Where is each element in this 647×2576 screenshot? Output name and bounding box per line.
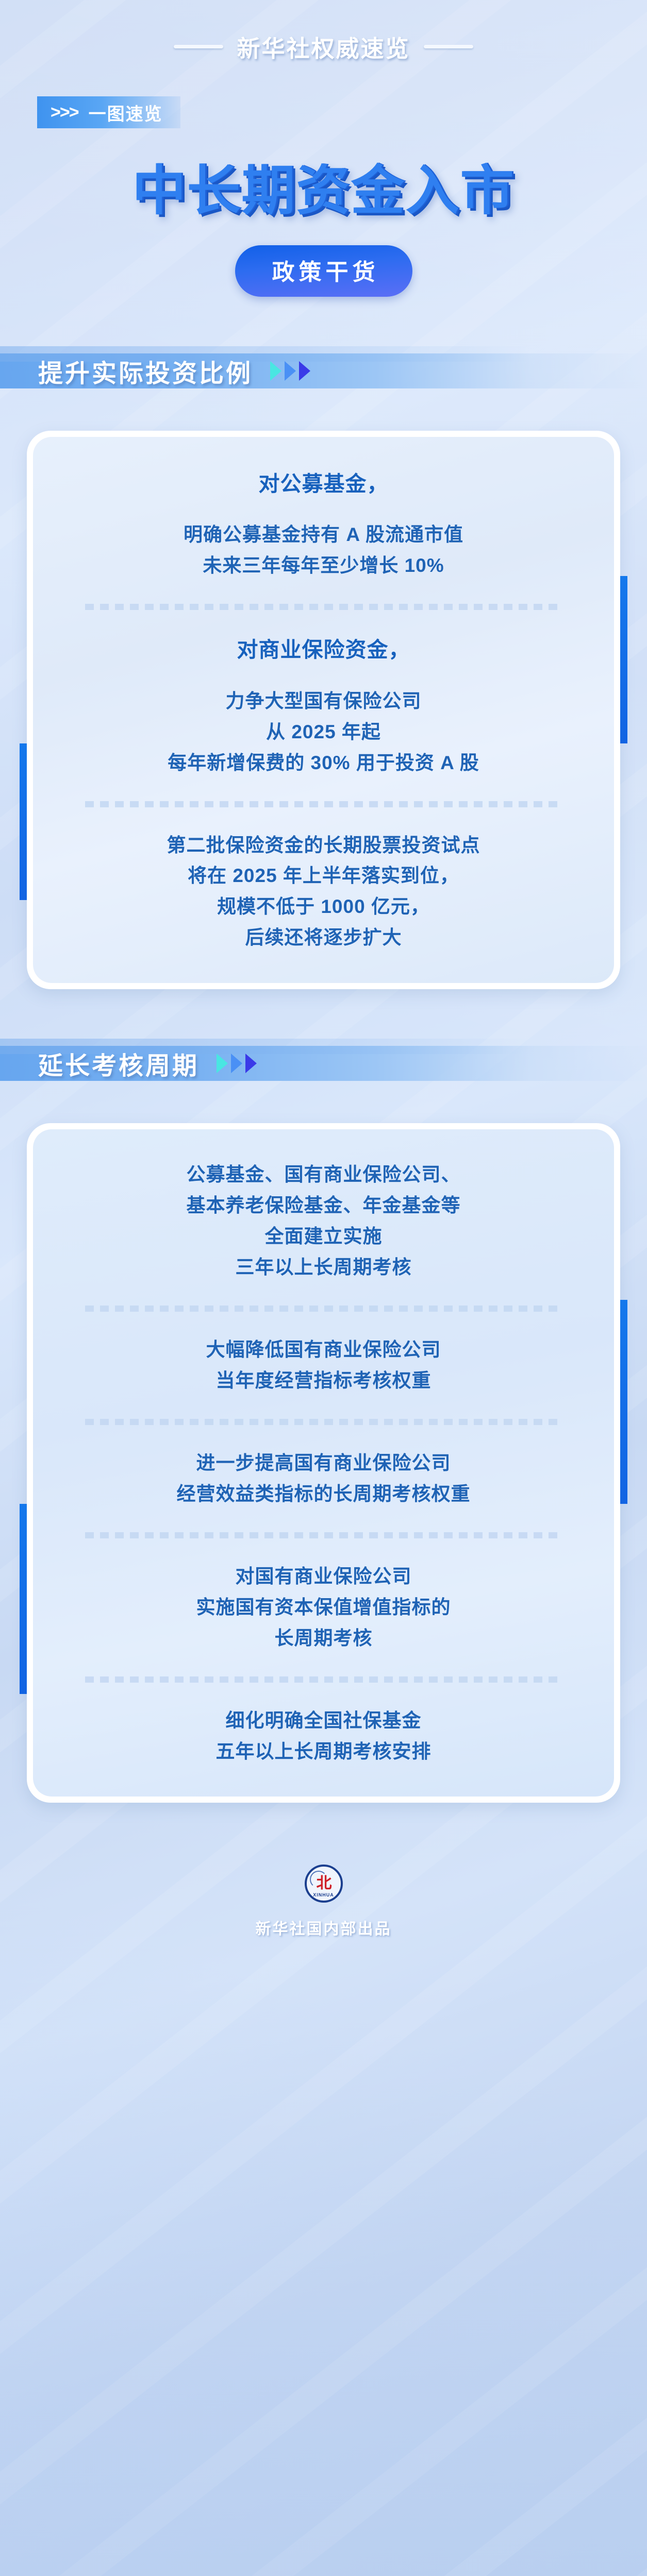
- content-block: 细化明确全国社保基金五年以上长周期考核安排: [56, 1705, 591, 1767]
- content-line: 力争大型国有保险公司: [56, 686, 591, 717]
- content-card-1: 对公募基金，明确公募基金持有 A 股流通市值未来三年每年至少增长 10%对商业保…: [27, 431, 620, 989]
- content-line: 大幅降低国有商业保险公司: [56, 1334, 591, 1365]
- arrow-right-icon: [231, 1054, 242, 1073]
- content-line: 将在 2025 年上半年落实到位，: [56, 860, 591, 891]
- logo-ring-icon: [310, 1871, 327, 1888]
- content-block: 大幅降低国有商业保险公司当年度经营指标考核权重: [56, 1334, 591, 1396]
- content-line: 经营效益类指标的长周期考核权重: [56, 1479, 591, 1510]
- content-line: 从 2025 年起: [56, 717, 591, 748]
- page-title: 中长期资金入市: [0, 147, 647, 225]
- content-block: 对国有商业保险公司实施国有资本保值增值指标的长周期考核: [56, 1561, 591, 1654]
- content-line: 规模不低于 1000 亿元，: [56, 891, 591, 922]
- chevrons-icon: >>>: [51, 104, 78, 121]
- subtitle-row: 政策干货: [0, 245, 647, 297]
- content-block: 公募基金、国有商业保险公司、基本养老保险基金、年金基金等全面建立实施三年以上长周…: [56, 1159, 591, 1283]
- sections-container: 提升实际投资比例对公募基金，明确公募基金持有 A 股流通市值未来三年每年至少增长…: [0, 346, 647, 1803]
- content-block: 第二批保险资金的长期股票投资试点将在 2025 年上半年落实到位，规模不低于 1…: [56, 830, 591, 954]
- brand-header: 新华社权威速览: [0, 0, 647, 63]
- divider-dashed: [85, 1532, 562, 1538]
- arrow-right-icon: [285, 361, 296, 381]
- content-line: 全面建立实施: [56, 1221, 591, 1252]
- eyebrow-row: >>> 一图速览: [0, 96, 647, 128]
- content-line: 公募基金、国有商业保险公司、: [56, 1159, 591, 1190]
- content-line: 每年新增保费的 30% 用于投资 A 股: [56, 748, 591, 778]
- divider-dashed: [85, 1306, 562, 1312]
- subtitle-pill: 政策干货: [235, 245, 412, 297]
- xinhua-logo-icon: 北 XINHUA: [305, 1865, 343, 1903]
- content-line: 后续还将逐步扩大: [56, 922, 591, 953]
- content-block: 对公募基金，明确公募基金持有 A 股流通市值未来三年每年至少增长 10%: [56, 467, 591, 581]
- brand-title: 新华社权威速览: [237, 30, 410, 63]
- rule-right-icon: [424, 45, 473, 48]
- content-line: 明确公募基金持有 A 股流通市值: [56, 519, 591, 550]
- content-card-2: 公募基金、国有商业保险公司、基本养老保险基金、年金基金等全面建立实施三年以上长周…: [27, 1123, 620, 1803]
- logo-caption: XINHUA: [307, 1892, 341, 1897]
- lead-row: 对商业保险资金，: [56, 633, 591, 672]
- divider-dashed: [85, 1676, 562, 1683]
- content-line: 第二批保险资金的长期股票投资试点: [56, 830, 591, 861]
- content-line: 进一步提高国有商业保险公司: [56, 1448, 591, 1479]
- poster-root: 新华社权威速览 >>> 一图速览 中长期资金入市 政策干货 提升实际投资比例对公…: [0, 0, 647, 2576]
- section-header-1: 提升实际投资比例: [0, 346, 647, 396]
- highlight-bar: [253, 485, 395, 499]
- eyebrow-label: 一图速览: [89, 100, 163, 125]
- arrow-group-icon: [217, 1054, 257, 1073]
- divider-dashed: [85, 801, 562, 807]
- arrow-right-icon: [270, 361, 281, 381]
- lead-text: 对公募基金，: [259, 467, 389, 501]
- card-surface: 公募基金、国有商业保险公司、基本养老保险基金、年金基金等全面建立实施三年以上长周…: [27, 1123, 620, 1803]
- content-line: 五年以上长周期考核安排: [56, 1736, 591, 1767]
- card-surface: 对公募基金，明确公募基金持有 A 股流通市值未来三年每年至少增长 10%对商业保…: [27, 431, 620, 989]
- highlight-bar: [231, 652, 417, 665]
- content-line: 对国有商业保险公司: [56, 1561, 591, 1592]
- content-line: 实施国有资本保值增值指标的: [56, 1592, 591, 1623]
- card-inner: 公募基金、国有商业保险公司、基本养老保险基金、年金基金等全面建立实施三年以上长周…: [33, 1129, 614, 1797]
- content-line: 未来三年每年至少增长 10%: [56, 550, 591, 581]
- content-block: 进一步提高国有商业保险公司经营效益类指标的长周期考核权重: [56, 1448, 591, 1510]
- spacer: [56, 506, 591, 519]
- content-line: 长周期考核: [56, 1623, 591, 1654]
- arrow-right-icon: [299, 361, 310, 381]
- content-line: 三年以上长周期考核: [56, 1252, 591, 1283]
- content-line: 细化明确全国社保基金: [56, 1705, 591, 1736]
- arrow-right-icon: [217, 1054, 228, 1073]
- content-line: 当年度经营指标考核权重: [56, 1365, 591, 1396]
- rule-left-icon: [174, 45, 223, 48]
- card-inner: 对公募基金，明确公募基金持有 A 股流通市值未来三年每年至少增长 10%对商业保…: [33, 437, 614, 983]
- lead-row: 对公募基金，: [56, 467, 591, 506]
- footer: 北 XINHUA 新华社国内部出品: [0, 1865, 647, 1969]
- footer-text: 新华社国内部出品: [0, 1916, 647, 1939]
- content-block: 对商业保险资金，力争大型国有保险公司从 2025 年起每年新增保费的 30% 用…: [56, 633, 591, 778]
- lead-text: 对商业保险资金，: [237, 633, 410, 667]
- divider-dashed: [85, 604, 562, 610]
- section-title: 延长考核周期: [38, 1045, 199, 1081]
- section-title: 提升实际投资比例: [38, 353, 253, 389]
- section-header-2: 延长考核周期: [0, 1039, 647, 1088]
- divider-dashed: [85, 1419, 562, 1425]
- spacer: [56, 672, 591, 686]
- arrow-group-icon: [270, 361, 310, 381]
- arrow-right-icon: [245, 1054, 257, 1073]
- eyebrow-badge: >>> 一图速览: [37, 96, 180, 128]
- content-line: 基本养老保险基金、年金基金等: [56, 1190, 591, 1221]
